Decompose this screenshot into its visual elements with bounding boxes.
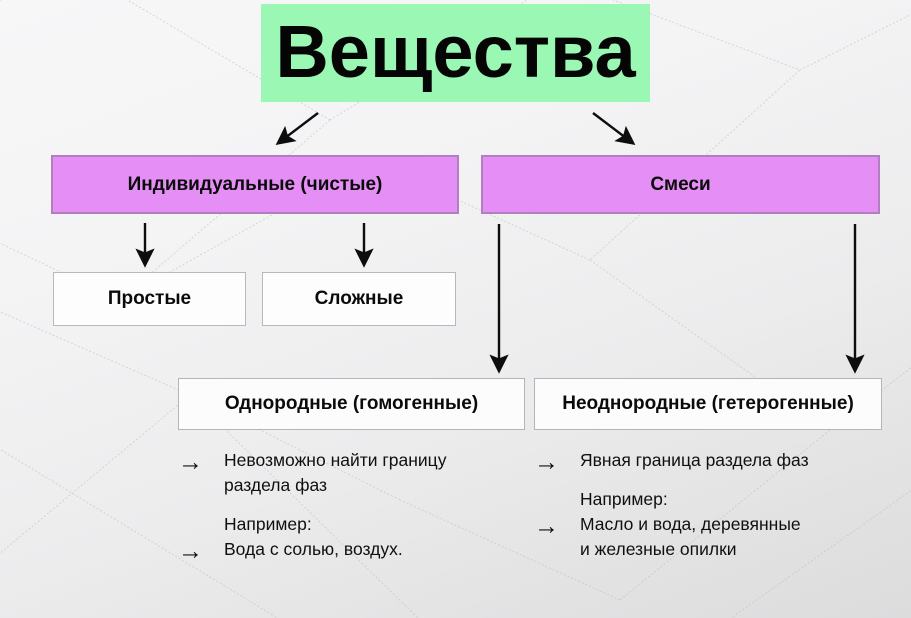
note-item: → Явная граница раздела фаз — [534, 448, 904, 473]
note-item: → Например: Масло и вода, деревянные и ж… — [534, 487, 904, 562]
right-arrow-icon: → — [534, 449, 559, 475]
node-complex-substances[interactable]: Сложные — [262, 272, 456, 326]
node-homogeneous-mixtures-label: Однородные (гомогенные) — [225, 393, 478, 415]
note-item: → Например: Вода с солью, воздух. — [178, 512, 518, 562]
node-complex-substances-label: Сложные — [315, 288, 404, 310]
right-arrow-icon: → — [178, 538, 203, 564]
node-individual-substances-label: Индивидуальные (чистые) — [128, 174, 383, 196]
page-title: Вещества — [261, 4, 649, 102]
right-arrow-icon: → — [178, 449, 203, 475]
node-homogeneous-mixtures[interactable]: Однородные (гомогенные) — [178, 378, 525, 430]
note-text: Например: Масло и вода, деревянные и жел… — [580, 487, 904, 562]
node-mixtures-label: Смеси — [650, 174, 710, 196]
note-text: Невозможно найти границу раздела фаз — [224, 448, 518, 498]
notes-homogeneous: → Невозможно найти границу раздела фаз →… — [178, 448, 518, 576]
title-container: Вещества — [0, 4, 911, 102]
node-heterogeneous-mixtures-label: Неоднородные (гетерогенные) — [562, 393, 854, 415]
node-heterogeneous-mixtures[interactable]: Неоднородные (гетерогенные) — [534, 378, 882, 430]
node-individual-substances[interactable]: Индивидуальные (чистые) — [51, 155, 459, 214]
note-text: Например: Вода с солью, воздух. — [224, 512, 518, 562]
arrow-title-to-mixtures — [593, 113, 630, 141]
node-simple-substances-label: Простые — [108, 288, 191, 310]
slide-canvas: Вещества Индивидуальные (чистые) Смеси — [0, 0, 911, 618]
node-simple-substances[interactable]: Простые — [53, 272, 246, 326]
arrow-title-to-individual — [281, 113, 318, 141]
right-arrow-icon: → — [534, 513, 559, 539]
notes-heterogeneous: → Явная граница раздела фаз → Например: … — [534, 448, 904, 576]
note-text: Явная граница раздела фаз — [580, 448, 904, 473]
note-item: → Невозможно найти границу раздела фаз — [178, 448, 518, 498]
node-mixtures[interactable]: Смеси — [481, 155, 880, 214]
